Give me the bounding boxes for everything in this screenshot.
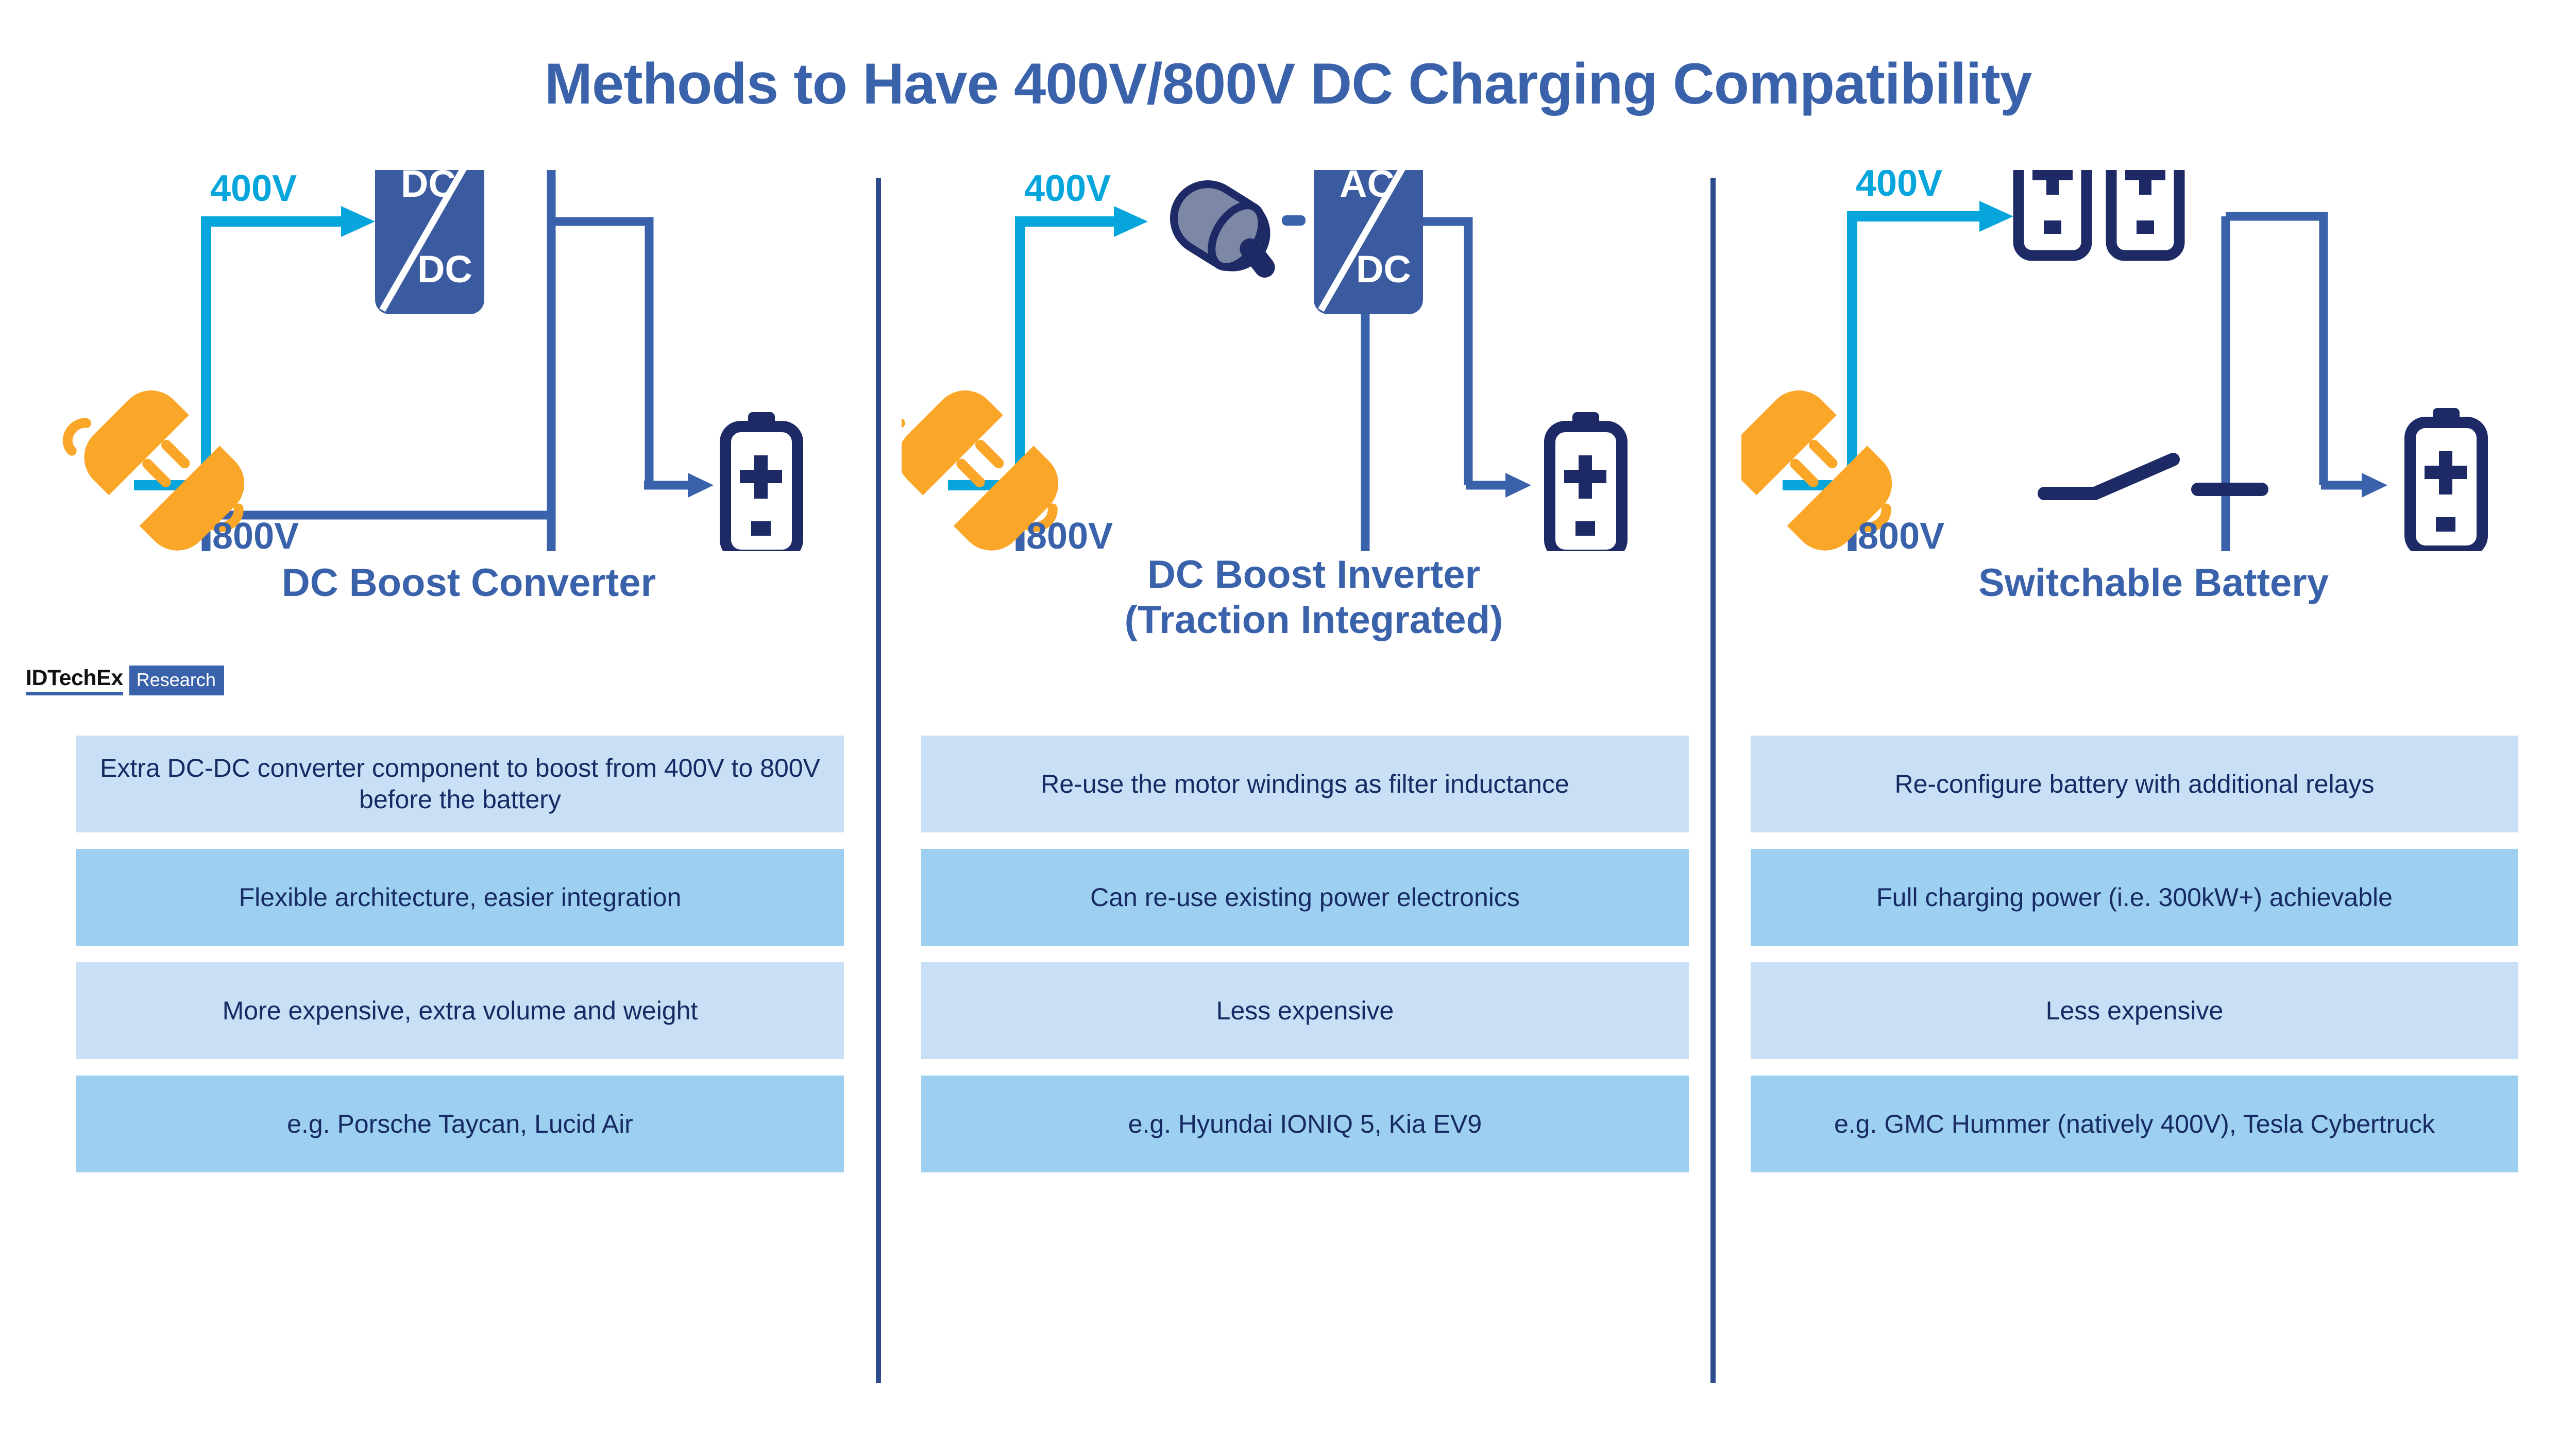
label-800v: 800V: [1026, 516, 1113, 551]
feature-box: Re-use the motor windings as filter indu…: [921, 736, 1689, 832]
column-dc-boost-converter: DC DC 400V 800V DC Boost Converter: [57, 170, 881, 606]
battery-icon: [2410, 408, 2482, 551]
converter-label-bottom: DC: [417, 248, 472, 291]
feature-box: e.g. Porsche Taycan, Lucid Air: [76, 1076, 844, 1172]
section-heading-2: DC Boost Inverter (Traction Integrated): [902, 552, 1726, 643]
inverter-label-top: AC: [1340, 170, 1395, 205]
motor-icon: [1161, 172, 1300, 294]
label-400v: 400V: [1856, 170, 1942, 204]
section-heading-2-line2: (Traction Integrated): [902, 598, 1726, 643]
infographic-page: Methods to Have 400V/800V DC Charging Co…: [0, 0, 2576, 1449]
feature-box: Less expensive: [1751, 962, 2518, 1059]
label-800v: 800V: [1858, 516, 1944, 551]
diagram-dc-boost-converter: DC DC 400V 800V: [57, 170, 881, 551]
feature-box: e.g. GMC Hummer (natively 400V), Tesla C…: [1751, 1076, 2518, 1172]
feature-box: Extra DC-DC converter component to boost…: [76, 736, 844, 832]
label-800v: 800V: [212, 516, 299, 551]
column-dc-boost-inverter: AC DC 400V 800V DC Boost Inverter (Tract…: [902, 170, 1726, 643]
ac-dc-inverter-block: AC DC: [1314, 170, 1423, 314]
dc-dc-converter-block: DC DC: [375, 170, 484, 314]
battery-cell-icon: [2111, 170, 2179, 255]
arrow-to-battery: [551, 221, 714, 498]
column-switchable-battery: 400V 800V Switchable Battery: [1741, 170, 2566, 606]
feature-box: e.g. Hyundai IONIQ 5, Kia EV9: [921, 1076, 1689, 1172]
battery-icon: [725, 412, 798, 551]
label-400v: 400V: [1024, 170, 1111, 209]
converter-label-top: DC: [401, 170, 456, 205]
logo-underline: [26, 692, 123, 695]
wire-800v: [1852, 216, 2226, 551]
wire-return: [2226, 216, 2324, 485]
feature-box: Flexible architecture, easier integratio…: [76, 849, 844, 946]
arrow-to-battery: [1466, 473, 1531, 498]
feature-list-3: Re-configure battery with additional rel…: [1751, 736, 2518, 1189]
logo-name: IDTechEx: [26, 667, 123, 689]
diagram-switchable-battery: 400V 800V: [1741, 170, 2566, 551]
section-heading-2-line1: DC Boost Inverter: [902, 552, 1726, 598]
feature-box: Re-configure battery with additional rel…: [1751, 736, 2518, 832]
idtechex-logo: IDTechEx Research: [26, 666, 224, 695]
wire-800v: [1020, 221, 1365, 551]
feature-list-1: Extra DC-DC converter component to boost…: [76, 736, 844, 1189]
feature-list-2: Re-use the motor windings as filter indu…: [921, 736, 1689, 1189]
feature-box: Full charging power (i.e. 300kW+) achiev…: [1751, 849, 2518, 946]
inverter-label-bottom: DC: [1356, 248, 1411, 291]
feature-box: More expensive, extra volume and weight: [76, 962, 844, 1059]
diagram-dc-boost-inverter: AC DC 400V 800V: [902, 170, 1726, 551]
feature-box: Can re-use existing power electronics: [921, 849, 1689, 946]
logo-wordmark: IDTechEx: [26, 666, 128, 695]
battery-icon: [1550, 412, 1622, 551]
page-title: Methods to Have 400V/800V DC Charging Co…: [0, 50, 2576, 117]
wire-return: [551, 221, 649, 485]
section-heading-3: Switchable Battery: [1741, 560, 2566, 606]
motor-connector: [1282, 215, 1306, 226]
label-400v: 400V: [210, 170, 297, 209]
logo-badge: Research: [129, 666, 224, 695]
arrow-to-battery: [2321, 473, 2387, 498]
feature-box: Less expensive: [921, 962, 1689, 1059]
battery-cell-icon: [2019, 170, 2087, 255]
section-heading-1: DC Boost Converter: [57, 560, 881, 606]
